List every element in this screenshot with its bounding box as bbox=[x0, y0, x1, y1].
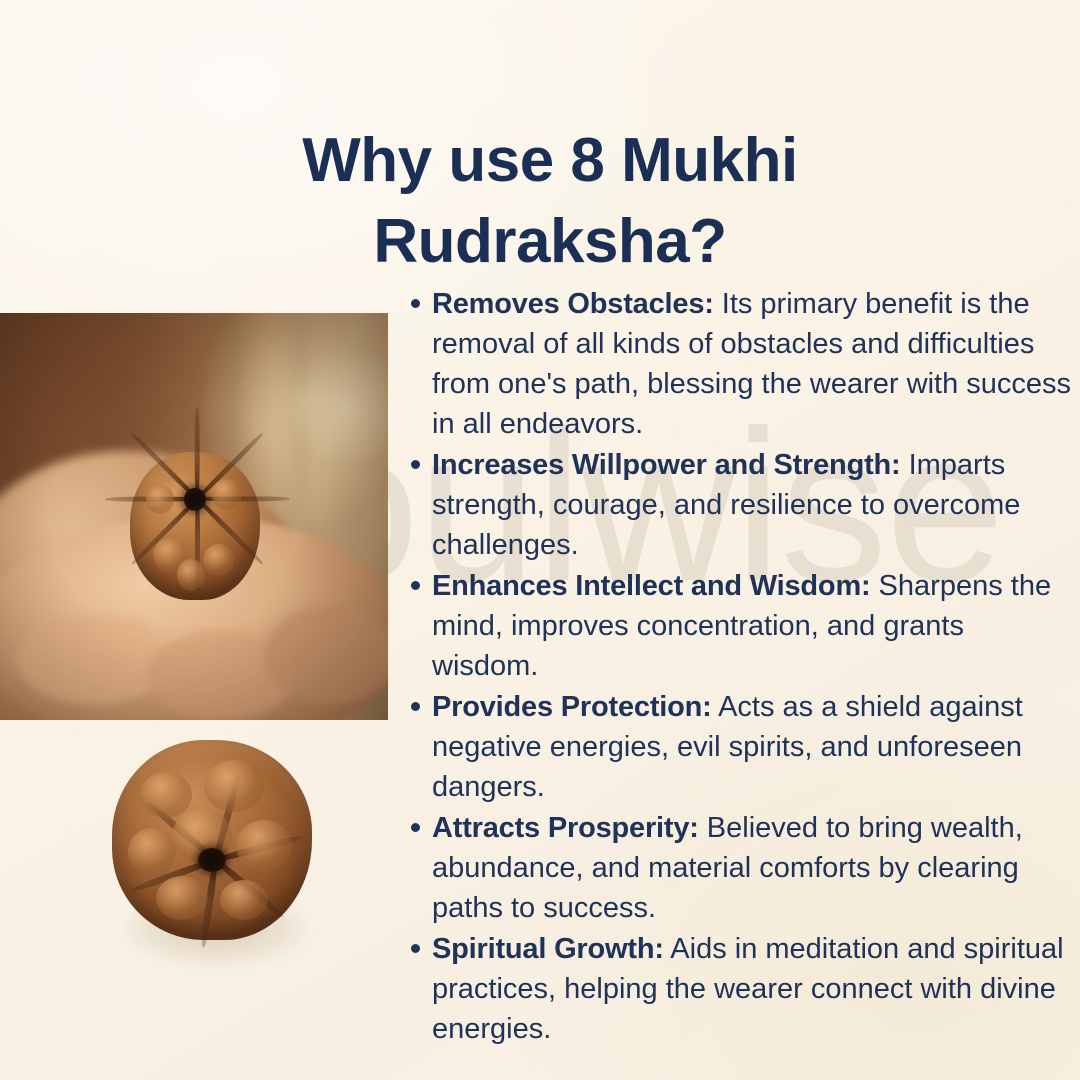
benefit-item-title: Enhances Intellect and Wisdom: bbox=[432, 570, 871, 602]
benefit-item-title: Spiritual Growth: bbox=[432, 933, 664, 965]
benefits-list: Removes Obstacles: Its primary benefit i… bbox=[404, 284, 1076, 1050]
bead-bump bbox=[177, 559, 206, 592]
benefit-item: Attracts Prosperity: Believed to bring w… bbox=[404, 808, 1076, 928]
bead-mukhi-line bbox=[195, 408, 200, 500]
page-title: Why use 8 Mukhi Rudraksha? bbox=[150, 120, 950, 284]
benefit-item-title: Attracts Prosperity: bbox=[432, 812, 699, 844]
benefit-item: Removes Obstacles: Its primary benefit i… bbox=[404, 284, 1076, 444]
bead-center-hole bbox=[198, 848, 226, 872]
benefit-item: Enhances Intellect and Wisdom: Sharpens … bbox=[404, 566, 1076, 686]
rudraksha-bead-in-hand bbox=[130, 452, 260, 600]
bead-bump bbox=[211, 479, 242, 510]
bead-bump bbox=[236, 820, 292, 872]
bead-body bbox=[112, 740, 312, 940]
bead-bump bbox=[140, 772, 192, 818]
bead-bump bbox=[203, 544, 234, 577]
benefit-item: Spiritual Growth: Aids in meditation and… bbox=[404, 929, 1076, 1049]
bead-bump bbox=[156, 876, 208, 920]
poster-canvas: oulwise Why use 8 Mukhi Rudraksha? bbox=[0, 0, 1080, 1080]
rudraksha-bead-closeup bbox=[112, 740, 312, 948]
bead-bump bbox=[128, 828, 176, 876]
benefit-item-title: Removes Obstacles: bbox=[432, 288, 714, 320]
bead-bump bbox=[146, 485, 175, 515]
benefit-item: Provides Protection: Acts as a shield ag… bbox=[404, 687, 1076, 807]
benefit-item-title: Increases Willpower and Strength: bbox=[432, 449, 901, 481]
bead-bump bbox=[220, 880, 268, 920]
bead-bump bbox=[204, 760, 264, 812]
benefit-item: Increases Willpower and Strength: Impart… bbox=[404, 445, 1076, 565]
benefit-item-title: Provides Protection: bbox=[432, 691, 712, 723]
